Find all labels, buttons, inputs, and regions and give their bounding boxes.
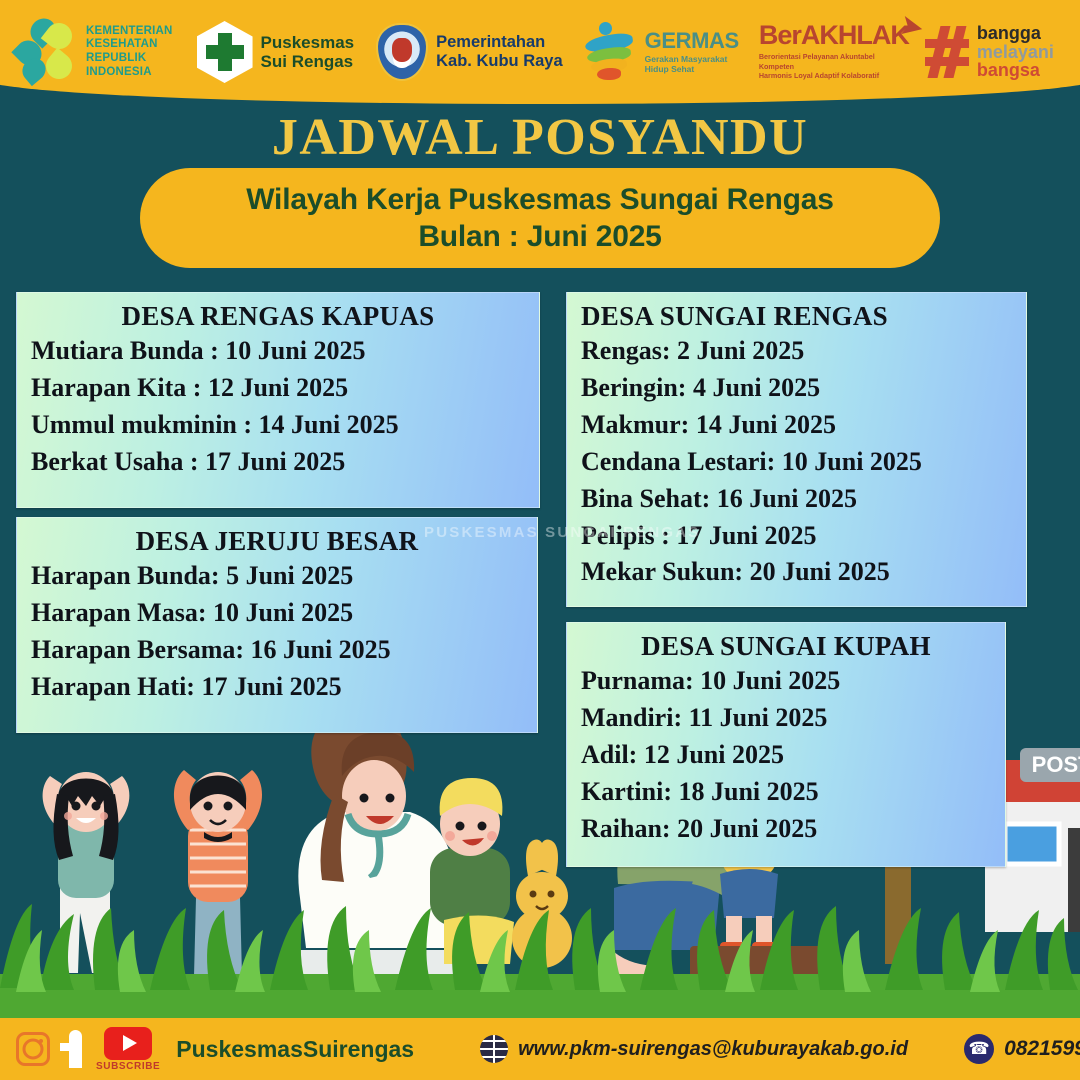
logo-bangga-melayani-bangsa: bangga melayani bangsa <box>925 24 1054 79</box>
germas-title: GERMAS <box>645 30 739 52</box>
post-office-sign-text: POST OFFICE <box>1032 752 1080 777</box>
germas-sub-1: Gerakan Masyarakat <box>645 54 739 64</box>
schedule-row: Harapan Kita : 12 Juni 2025 <box>31 370 525 407</box>
kabupaten-kubu-raya-seal <box>376 23 428 81</box>
schedule-row: Raihan: 20 Juni 2025 <box>581 811 991 848</box>
youtube-subscribe-group[interactable]: SUBSCRIBE <box>96 1027 160 1072</box>
kemenkes-line-3: REPUBLIK <box>86 52 173 66</box>
germas-label: GERMAS Gerakan Masyarakat Hidup Sehat <box>645 30 739 74</box>
schedule-row: Makmur: 14 Juni 2025 <box>581 407 1012 444</box>
kemenkes-label: KEMENTERIAN KESEHATAN REPUBLIK INDONESIA <box>86 25 173 79</box>
berakhlak-main: AKHLAK <box>801 20 909 50</box>
green-cross-hexagon-logo <box>197 21 253 83</box>
kemenkes-line-1: KEMENTERIAN <box>86 25 173 39</box>
green-cross-icon <box>206 33 244 71</box>
logo-kubu-raya: Pemerintahan Kab. Kubu Raya <box>376 23 563 81</box>
schedule-row: Harapan Bersama: 16 Juni 2025 <box>31 632 523 669</box>
schedule-row: Kartini: 18 Juni 2025 <box>581 774 991 811</box>
logo-germas: GERMAS Gerakan Masyarakat Hidup Sehat <box>583 22 739 82</box>
card-sungai-rengas: DESA SUNGAI RENGAS Rengas: 2 Juni 2025 B… <box>566 292 1027 607</box>
subtitle-line-2: Bulan : Juni 2025 <box>418 218 661 256</box>
schedule-row: Harapan Bunda: 5 Juni 2025 <box>31 558 523 595</box>
card-jeruju-besar: DESA JERUJU BESAR Harapan Bunda: 5 Juni … <box>16 517 538 733</box>
social-handle: PuskesmasSuirengas <box>176 1036 414 1063</box>
phone-icon: ☎ <box>964 1034 994 1064</box>
card-title: DESA SUNGAI RENGAS <box>581 301 1012 332</box>
germas-figure-logo <box>583 22 637 82</box>
card-title: DESA SUNGAI KUPAH <box>581 631 991 662</box>
kubu-raya-label: Pemerintahan Kab. Kubu Raya <box>436 33 563 71</box>
globe-icon <box>480 1035 508 1063</box>
germas-sub-2: Hidup Sehat <box>645 64 739 74</box>
berakhlak-sub-2: Harmonis Loyal Adaptif Kolaboratif <box>759 71 909 81</box>
schedule-row: Ummul mukminin : 14 Juni 2025 <box>31 407 525 444</box>
subtitle-line-1: Wilayah Kerja Puskesmas Sungai Rengas <box>246 181 834 219</box>
schedule-row: Rengas: 2 Juni 2025 <box>581 333 1012 370</box>
logo-berakhlak: BerAKHLAK ➤ Berorientasi Pelayanan Akunt… <box>759 23 909 81</box>
puskesmas-label: Puskesmas Sui Rengas <box>261 33 355 71</box>
poster-root: KEMENTERIAN KESEHATAN REPUBLIK INDONESIA… <box>0 0 1080 1080</box>
schedule-row: Harapan Masa: 10 Juni 2025 <box>31 595 523 632</box>
schedule-row: Mekar Sukun: 20 Juni 2025 <box>581 554 1012 591</box>
puskesmas-line-2: Sui Rengas <box>261 52 355 71</box>
subtitle-pill: Wilayah Kerja Puskesmas Sungai Rengas Bu… <box>140 168 940 268</box>
page-title: JADWAL POSYANDU <box>0 108 1080 167</box>
footer-contact-band: SUBSCRIBE PuskesmasSuirengas www.pkm-sui… <box>0 1018 1080 1080</box>
berakhlak-title: BerAKHLAK ➤ <box>759 23 909 49</box>
grass-foreground <box>0 904 1080 1018</box>
youtube-subscribe-label: SUBSCRIBE <box>96 1061 160 1072</box>
phone-number[interactable]: 082159978327 <box>1004 1037 1080 1061</box>
puskesmas-line-1: Puskesmas <box>261 33 355 52</box>
facebook-icon[interactable] <box>60 1030 86 1068</box>
kubu-raya-line-2: Kab. Kubu Raya <box>436 52 563 71</box>
schedule-row: Bina Sehat: 16 Juni 2025 <box>581 481 1012 518</box>
logo-kemenkes: KEMENTERIAN KESEHATAN REPUBLIK INDONESIA <box>16 19 173 85</box>
schedule-row: Adil: 12 Juni 2025 <box>581 737 991 774</box>
card-sungai-kupah: DESA SUNGAI KUPAH Purnama: 10 Juni 2025 … <box>566 622 1006 867</box>
schedule-row: Pelipis : 17 Juni 2025 <box>581 518 1012 555</box>
berakhlak-wordmark: BerAKHLAK ➤ Berorientasi Pelayanan Akunt… <box>759 23 909 81</box>
berakhlak-prefix: Ber <box>759 20 801 50</box>
kemenkes-flower-logo <box>16 19 78 85</box>
website-text[interactable]: www.pkm-suirengas@kuburayakab.go.id <box>518 1038 908 1061</box>
kemenkes-line-4: INDONESIA <box>86 66 173 80</box>
card-rengas-kapuas: DESA RENGAS KAPUAS Mutiara Bunda : 10 Ju… <box>16 292 540 508</box>
kemenkes-line-2: KESEHATAN <box>86 38 173 52</box>
berakhlak-tick-icon: ➤ <box>899 12 924 40</box>
header-logo-band: KEMENTERIAN KESEHATAN REPUBLIK INDONESIA… <box>0 0 1080 104</box>
kubu-raya-line-1: Pemerintahan <box>436 33 563 52</box>
schedule-row: Harapan Hati: 17 Juni 2025 <box>31 669 523 706</box>
hash-bangga-logo <box>925 26 969 78</box>
bangga-line-2: melayani <box>977 43 1054 61</box>
logo-puskesmas: Puskesmas Sui Rengas <box>197 21 355 83</box>
berakhlak-sub-1: Berorientasi Pelayanan Akuntabel Kompete… <box>759 52 909 71</box>
schedule-row: Mandiri: 11 Juni 2025 <box>581 700 991 737</box>
schedule-row: Mutiara Bunda : 10 Juni 2025 <box>31 333 525 370</box>
youtube-icon[interactable] <box>104 1027 152 1060</box>
bangga-label: bangga melayani bangsa <box>977 24 1054 79</box>
schedule-row: Beringin: 4 Juni 2025 <box>581 370 1012 407</box>
card-title: DESA RENGAS KAPUAS <box>31 301 525 332</box>
card-title: DESA JERUJU BESAR <box>31 526 523 557</box>
schedule-row: Berkat Usaha : 17 Juni 2025 <box>31 444 525 481</box>
bangga-line-3: bangsa <box>977 61 1054 79</box>
bangga-line-1: bangga <box>977 24 1054 42</box>
instagram-icon[interactable] <box>16 1032 50 1066</box>
schedule-row: Cendana Lestari: 10 Juni 2025 <box>581 444 1012 481</box>
schedule-row: Purnama: 10 Juni 2025 <box>581 663 991 700</box>
